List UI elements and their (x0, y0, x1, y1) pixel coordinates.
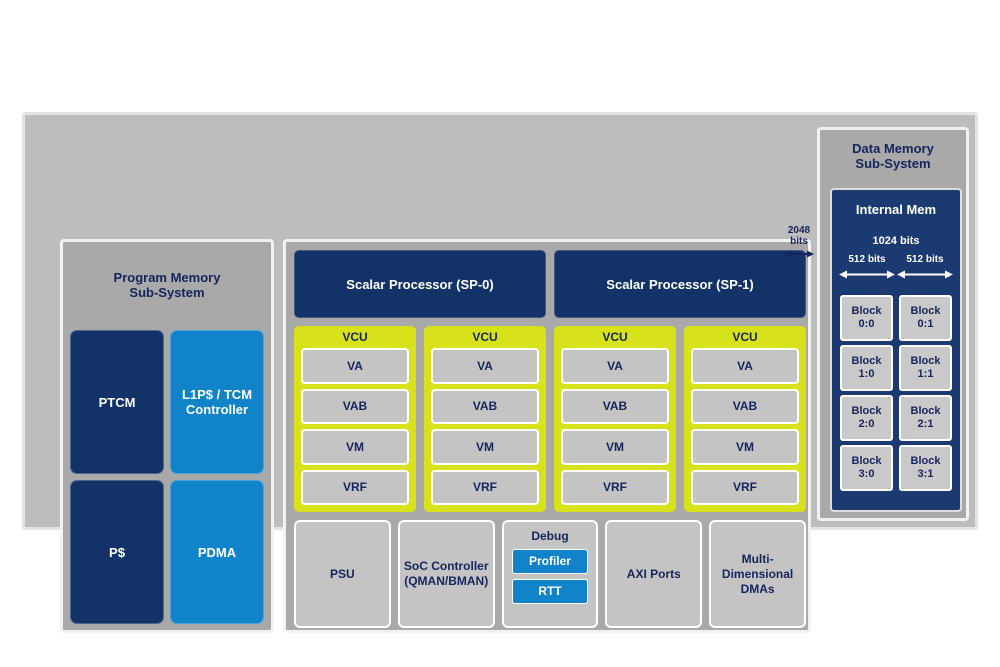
block-axi-ports[interactable]: AXI Ports (605, 520, 702, 628)
data-memory-subsystem-panel: Data Memory Sub-System Internal Mem 1024… (817, 127, 969, 521)
block-ptcm[interactable]: PTCM (70, 330, 164, 474)
double-arrow-icon (784, 248, 814, 260)
block-vcu-1[interactable]: VCU VA VAB VM VRF (424, 326, 546, 512)
memory-block-3-1[interactable]: Block 3:1 (899, 445, 952, 491)
block-vcu-3[interactable]: VCU VA VAB VM VRF (684, 326, 806, 512)
block-soc-controller-label: SoC Controller (QMAN/BMAN) (404, 559, 489, 589)
bus-connector-2048bits: 2048 bits (783, 225, 815, 265)
block-debug-label: Debug (531, 529, 568, 544)
double-arrow-icon-left (839, 269, 895, 280)
block-debug[interactable]: Debug Profiler RTT (502, 520, 599, 628)
vcu-2-unit-vm[interactable]: VM (561, 429, 669, 465)
bus-connector-label: 2048 bits (783, 225, 815, 247)
program-memory-block-grid: PTCM L1P$ / TCM Controller P$ PDMA (70, 330, 264, 624)
double-arrow-icon-right (897, 269, 953, 280)
vcu-3-unit-va[interactable]: VA (691, 348, 799, 384)
vcu-2-unit-va[interactable]: VA (561, 348, 669, 384)
internal-mem-total-width: 1024 bits (832, 235, 960, 247)
block-vcu-2[interactable]: VCU VA VAB VM VRF (554, 326, 676, 512)
vcu-0-unit-vab[interactable]: VAB (301, 389, 409, 425)
vcu-3-unit-vrf[interactable]: VRF (691, 470, 799, 506)
vcu-3-unit-vab[interactable]: VAB (691, 389, 799, 425)
width-arrow-left-group: 512 bits (838, 254, 896, 285)
width-arrow-left-label: 512 bits (838, 254, 896, 265)
block-vcu-3-label: VCU (691, 330, 799, 344)
block-vcu-2-label: VCU (561, 330, 669, 344)
memory-block-0-1[interactable]: Block 0:1 (899, 295, 952, 341)
vcu-0-unit-vm[interactable]: VM (301, 429, 409, 465)
vcu-row: VCU VA VAB VM VRF VCU VA VAB VM VRF VCU … (294, 326, 806, 512)
internal-mem-title: Internal Mem (832, 202, 960, 217)
memory-block-3-0[interactable]: Block 3:0 (840, 445, 893, 491)
memory-block-0-0[interactable]: Block 0:0 (840, 295, 893, 341)
block-psu-label: PSU (330, 567, 355, 582)
vcu-3-unit-vm[interactable]: VM (691, 429, 799, 465)
program-memory-subsystem-title: Program Memory Sub-System (63, 270, 271, 300)
block-multi-dimensional-dmas-label: Multi- Dimensional DMAs (722, 552, 793, 597)
data-memory-subsystem-title: Data Memory Sub-System (820, 141, 966, 171)
memory-block-1-1[interactable]: Block 1:1 (899, 345, 952, 391)
block-axi-ports-label: AXI Ports (627, 567, 681, 582)
vcu-0-unit-va[interactable]: VA (301, 348, 409, 384)
block-scalar-processor-sp1[interactable]: Scalar Processor (SP-1) (554, 250, 806, 318)
memory-block-grid: Block 0:0 Block 0:1 Block 1:0 Block 1:1 … (840, 295, 952, 491)
width-arrow-right-label: 512 bits (896, 254, 954, 265)
vcu-1-unit-va[interactable]: VA (431, 348, 539, 384)
block-vcu-0[interactable]: VCU VA VAB VM VRF (294, 326, 416, 512)
internal-mem-width-arrows: 512 bits 512 bits (838, 254, 954, 285)
processor-core-panel: Scalar Processor (SP-0) Scalar Processor… (283, 239, 811, 633)
peripheral-row: PSU SoC Controller (QMAN/BMAN) Debug Pro… (294, 520, 806, 628)
block-l1p-tcm-controller[interactable]: L1P$ / TCM Controller (170, 330, 264, 474)
diagram-canvas: Program Memory Sub-System PTCM L1P$ / TC… (0, 0, 1000, 667)
block-vcu-1-label: VCU (431, 330, 539, 344)
memory-block-2-0[interactable]: Block 2:0 (840, 395, 893, 441)
block-scalar-processor-sp0[interactable]: Scalar Processor (SP-0) (294, 250, 546, 318)
block-ptcm-label: PTCM (99, 395, 136, 410)
debug-profiler-button[interactable]: Profiler (512, 549, 588, 574)
block-l1p-tcm-controller-label: L1P$ / TCM Controller (182, 387, 252, 417)
block-pcache-label: P$ (109, 545, 125, 560)
vcu-2-unit-vrf[interactable]: VRF (561, 470, 669, 506)
vcu-1-unit-vab[interactable]: VAB (431, 389, 539, 425)
block-pdma-label: PDMA (198, 545, 236, 560)
chip-outer-frame: Program Memory Sub-System PTCM L1P$ / TC… (22, 112, 978, 530)
block-pdma[interactable]: PDMA (170, 480, 264, 624)
block-pcache[interactable]: P$ (70, 480, 164, 624)
internal-mem-block[interactable]: Internal Mem 1024 bits 512 bits 512 bits (830, 188, 962, 512)
block-scalar-processor-sp0-label: Scalar Processor (SP-0) (346, 277, 493, 292)
vcu-2-unit-vab[interactable]: VAB (561, 389, 669, 425)
width-arrow-right-group: 512 bits (896, 254, 954, 285)
vcu-1-unit-vrf[interactable]: VRF (431, 470, 539, 506)
block-psu[interactable]: PSU (294, 520, 391, 628)
block-multi-dimensional-dmas[interactable]: Multi- Dimensional DMAs (709, 520, 806, 628)
vcu-1-unit-vm[interactable]: VM (431, 429, 539, 465)
program-memory-subsystem-panel: Program Memory Sub-System PTCM L1P$ / TC… (60, 239, 274, 633)
debug-rtt-button[interactable]: RTT (512, 579, 588, 604)
block-soc-controller[interactable]: SoC Controller (QMAN/BMAN) (398, 520, 495, 628)
memory-block-1-0[interactable]: Block 1:0 (840, 345, 893, 391)
scalar-processor-row: Scalar Processor (SP-0) Scalar Processor… (294, 250, 806, 318)
block-vcu-0-label: VCU (301, 330, 409, 344)
block-scalar-processor-sp1-label: Scalar Processor (SP-1) (606, 277, 753, 292)
vcu-0-unit-vrf[interactable]: VRF (301, 470, 409, 506)
memory-block-2-1[interactable]: Block 2:1 (899, 395, 952, 441)
